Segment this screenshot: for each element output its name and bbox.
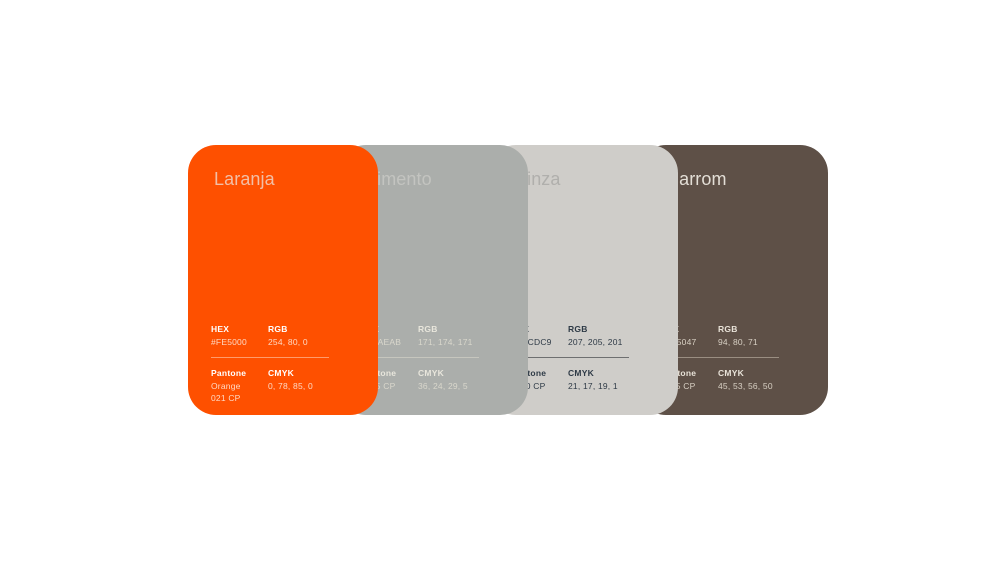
cmyk-label: CMYK: [718, 367, 803, 380]
spec-col-pantone: Pantone Orange 021 CP: [211, 367, 268, 404]
rgb-label: RGB: [418, 323, 503, 336]
cmyk-value: 21, 17, 19, 1: [568, 380, 653, 392]
cmyk-value: 45, 53, 56, 50: [718, 380, 803, 392]
rgb-value: 254, 80, 0: [268, 336, 353, 348]
spec-row-hex-rgb: HEX #5E5047 RGB 94, 80, 71: [661, 323, 803, 348]
rgb-label: RGB: [268, 323, 353, 336]
spec-row-pantone-cmyk: Pantone Orange 021 CP CMYK 0, 78, 85, 0: [211, 367, 353, 404]
spec-row-pantone-cmyk: Pantone 4275 CP CMYK 36, 24, 29, 5: [361, 367, 503, 392]
palette-canvas: Laranja HEX #FE5000 RGB 254, 80, 0 Panto…: [0, 0, 1000, 563]
spec-row-pantone-cmyk: Pantone 2335 CP CMYK 45, 53, 56, 50: [661, 367, 803, 392]
spec-col-cmyk: CMYK 36, 24, 29, 5: [418, 367, 503, 392]
card-title: Laranja: [214, 169, 275, 190]
spec-col-hex: HEX #FE5000: [211, 323, 268, 348]
rgb-value: 207, 205, 201: [568, 336, 653, 348]
spec-col-rgb: RGB 171, 174, 171: [418, 323, 503, 348]
rgb-value: 171, 174, 171: [418, 336, 503, 348]
spec-row-pantone-cmyk: Pantone 2330 CP CMYK 21, 17, 19, 1: [511, 367, 653, 392]
card-specs: HEX #ABAEAB RGB 171, 174, 171 Pantone 42…: [361, 323, 503, 392]
spec-divider: [361, 357, 479, 358]
cmyk-label: CMYK: [418, 367, 503, 380]
card-specs: HEX #FE5000 RGB 254, 80, 0 Pantone Orang…: [211, 323, 353, 404]
hex-value: #FE5000: [211, 336, 268, 348]
rgb-value: 94, 80, 71: [718, 336, 803, 348]
cmyk-value: 0, 78, 85, 0: [268, 380, 353, 392]
card-specs: HEX #CFCDC9 RGB 207, 205, 201 Pantone 23…: [511, 323, 653, 392]
cmyk-label: CMYK: [568, 367, 653, 380]
spec-row-hex-rgb: HEX #CFCDC9 RGB 207, 205, 201: [511, 323, 653, 348]
spec-col-cmyk: CMYK 0, 78, 85, 0: [268, 367, 353, 404]
color-card-laranja[interactable]: Laranja HEX #FE5000 RGB 254, 80, 0 Panto…: [188, 145, 378, 415]
spec-row-hex-rgb: HEX #ABAEAB RGB 171, 174, 171: [361, 323, 503, 348]
card-specs: HEX #5E5047 RGB 94, 80, 71 Pantone 2335 …: [661, 323, 803, 392]
pantone-label: Pantone: [211, 367, 268, 380]
spec-divider: [211, 357, 329, 358]
rgb-label: RGB: [718, 323, 803, 336]
cmyk-value: 36, 24, 29, 5: [418, 380, 503, 392]
pantone-value: Orange 021 CP: [211, 380, 268, 404]
rgb-label: RGB: [568, 323, 653, 336]
hex-label: HEX: [211, 323, 268, 336]
spec-col-rgb: RGB 254, 80, 0: [268, 323, 353, 348]
spec-col-rgb: RGB 94, 80, 71: [718, 323, 803, 348]
spec-col-rgb: RGB 207, 205, 201: [568, 323, 653, 348]
spec-row-hex-rgb: HEX #FE5000 RGB 254, 80, 0: [211, 323, 353, 348]
cmyk-label: CMYK: [268, 367, 353, 380]
spec-divider: [511, 357, 629, 358]
spec-col-cmyk: CMYK 21, 17, 19, 1: [568, 367, 653, 392]
spec-col-cmyk: CMYK 45, 53, 56, 50: [718, 367, 803, 392]
spec-divider: [661, 357, 779, 358]
